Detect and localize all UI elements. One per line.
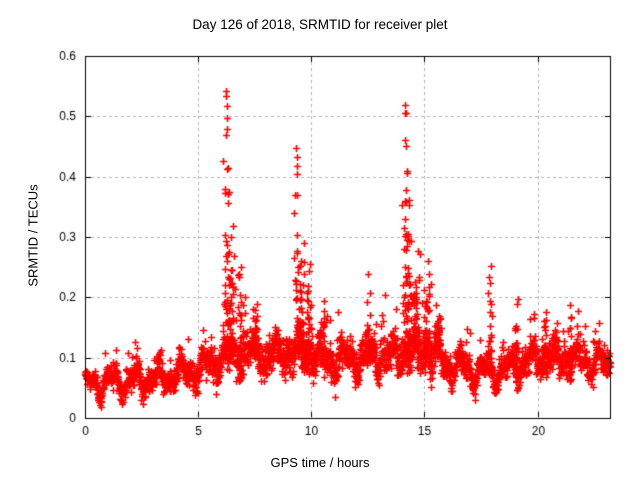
y-axis-label: SRMTID / TECUs: [26, 116, 41, 356]
plot-canvas: [0, 0, 640, 480]
page-title: Day 126 of 2018, SRMTID for receiver ple…: [0, 17, 640, 32]
x-axis-label: GPS time / hours: [0, 455, 640, 470]
scatter-plot-figure: Day 126 of 2018, SRMTID for receiver ple…: [0, 0, 640, 480]
